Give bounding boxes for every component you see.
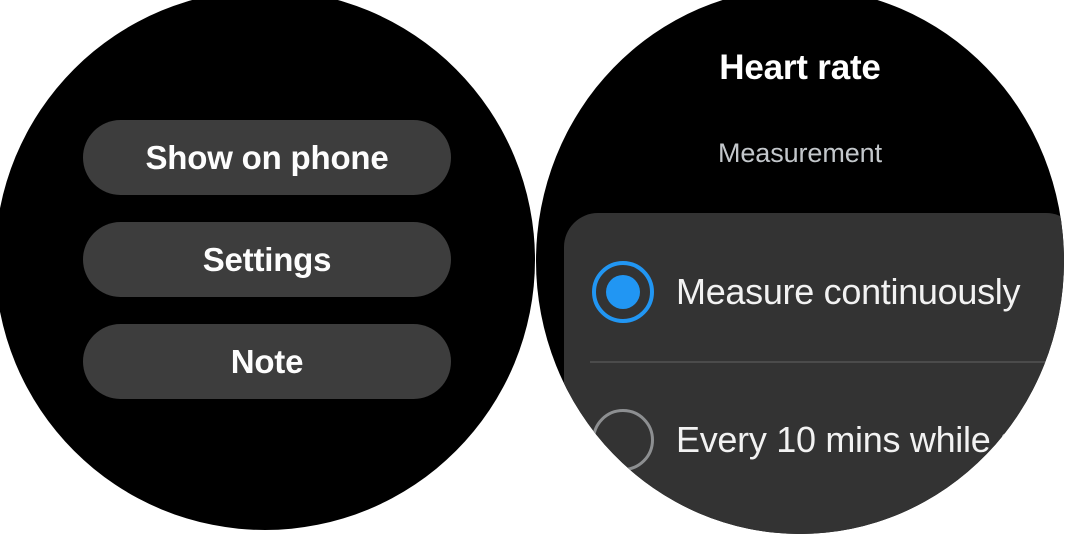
page-title: Heart rate bbox=[536, 50, 1064, 85]
radio-selected-icon[interactable] bbox=[592, 261, 654, 323]
notification-action-menu: Show on phone Settings Note bbox=[0, 0, 535, 530]
option-divider bbox=[590, 361, 1054, 363]
option-every-10-mins-while-still[interactable]: Every 10 mins while still bbox=[564, 373, 1064, 507]
option-label: Every 10 mins while still bbox=[676, 419, 1051, 461]
watch-face-left: Show on phone Settings Note bbox=[0, 0, 535, 530]
section-subtitle: Measurement bbox=[536, 140, 1064, 167]
measurement-options-card: Measure continuously Every 10 mins while… bbox=[564, 213, 1064, 534]
heart-rate-settings-screen: Heart rate Measurement Measure continuou… bbox=[536, 0, 1064, 534]
radio-unselected-icon[interactable] bbox=[592, 409, 654, 471]
menu-item-settings[interactable]: Settings bbox=[83, 222, 451, 297]
watch-face-right: Heart rate Measurement Measure continuou… bbox=[536, 0, 1064, 534]
option-measure-continuously[interactable]: Measure continuously bbox=[564, 225, 1064, 359]
menu-item-label: Note bbox=[231, 345, 304, 378]
menu-item-show-on-phone[interactable]: Show on phone bbox=[83, 120, 451, 195]
option-label: Measure continuously bbox=[676, 271, 1020, 313]
menu-item-note[interactable]: Note bbox=[83, 324, 451, 399]
menu-item-label: Show on phone bbox=[145, 141, 388, 174]
screenshot-canvas: Show on phone Settings Note Heart rate M… bbox=[0, 0, 1068, 534]
menu-item-label: Settings bbox=[203, 243, 332, 276]
